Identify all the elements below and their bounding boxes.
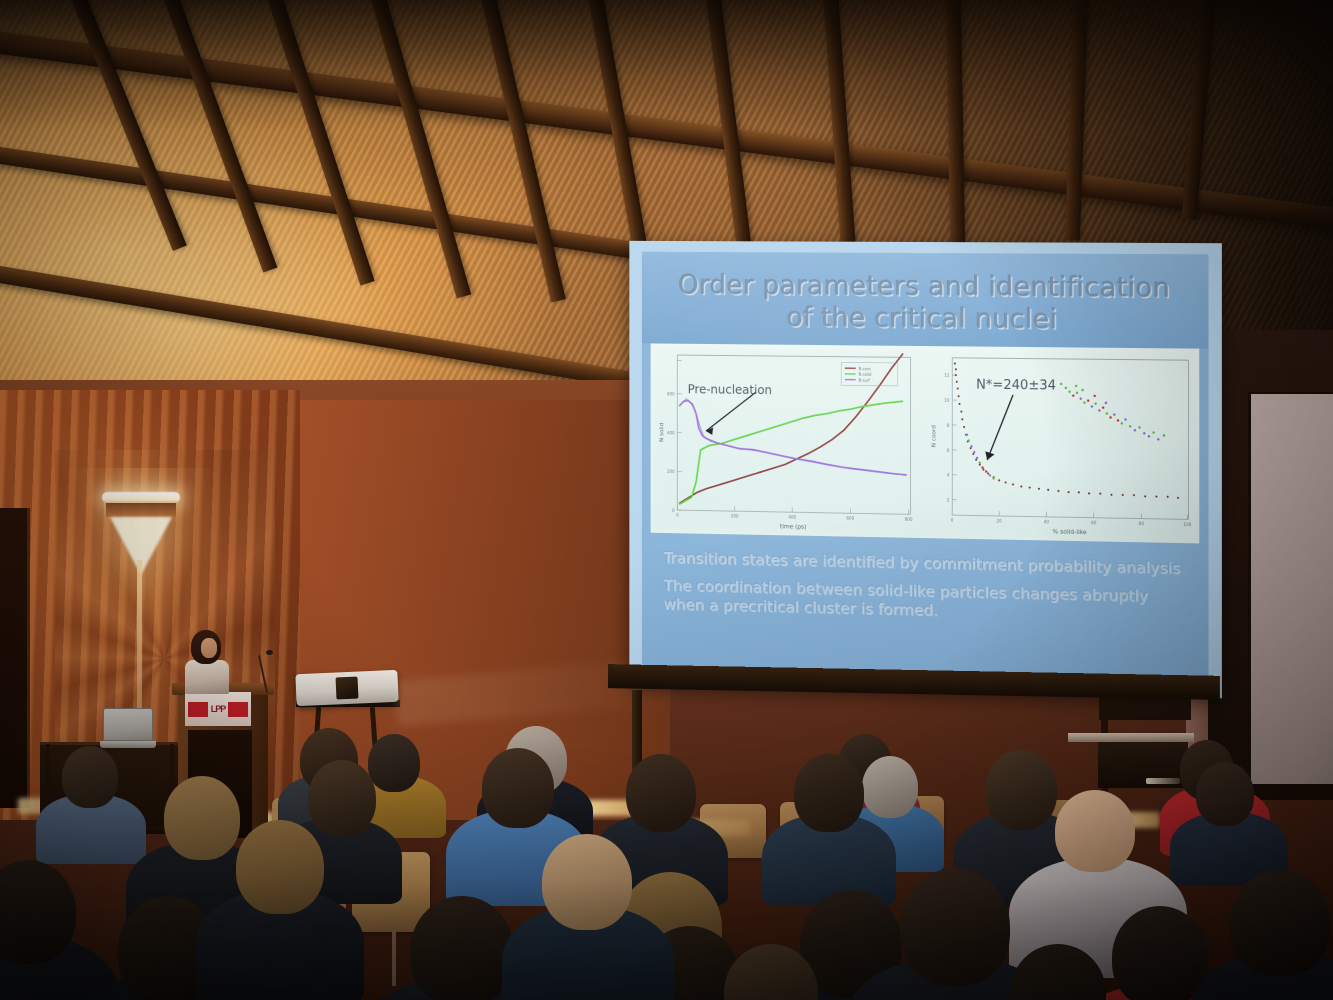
sconce-neck [106,503,176,517]
left-chart-yticks: 0200 400600 [667,392,675,513]
right-chart-xlabel: % solid-like [1052,529,1086,537]
left-chart: N core N solid N surf time (ps) N solid … [650,344,921,538]
head [0,860,76,964]
svg-text:4: 4 [947,473,950,478]
speaker-body [185,660,229,694]
head [1112,906,1208,1000]
left-chart-svg: N core N solid N surf time (ps) N solid … [650,344,921,538]
right-chart-yticks: 246 81012 [944,373,950,503]
head [410,896,514,1000]
projection-screen: Order parameters and identification of t… [629,241,1222,698]
slide-title-line2: of the critical nuclei [787,302,1058,335]
prenucleation-label: Pre-nucleation [688,382,772,397]
slide-bullet-1: Transition states are identified by comm… [663,549,1186,579]
presentation-slide: Order parameters and identification of t… [629,241,1222,698]
right-chart: % solid-like N coord 02040 6080100 246 8… [921,346,1200,543]
slide-title-band: Order parameters and identification of t… [642,251,1208,349]
svg-text:20: 20 [997,519,1003,524]
microphone-head [266,650,273,655]
head [308,760,376,836]
lecture-hall-photo: LPP Order parameters and identificatio [0,0,1333,1000]
slide-title-line1: Order parameters and identification [678,270,1170,304]
projector-lens [336,677,359,700]
svg-text:200: 200 [730,514,738,519]
svg-text:0: 0 [672,508,675,513]
head [482,748,554,828]
svg-text:40: 40 [1044,520,1050,525]
svg-text:600: 600 [667,392,675,397]
svg-text:100: 100 [1183,522,1191,527]
head [542,834,632,930]
head [368,734,420,792]
head [1055,790,1135,872]
sconce-bar [102,492,180,503]
series-solid [679,399,903,509]
slide-charts: N core N solid N surf time (ps) N solid … [650,344,1199,544]
wall-sconce-lamp [96,492,190,552]
svg-text:12: 12 [944,373,950,378]
left-chart-ylabel: N solid [659,423,665,443]
svg-text:2: 2 [947,498,950,503]
right-chart-ylabel: N coord [932,425,938,448]
svg-text:N surf: N surf [858,378,870,383]
svg-text:0: 0 [676,513,679,518]
svg-text:600: 600 [846,516,854,521]
nstar-arrow [987,395,1013,461]
head [626,754,696,832]
upper-band-points [1060,383,1165,441]
head [1196,762,1254,826]
series-surface [679,401,907,476]
svg-text:200: 200 [667,469,675,474]
svg-text:800: 800 [904,517,912,522]
svg-text:6: 6 [947,448,950,453]
slide-content: Order parameters and identification of t… [642,251,1208,686]
speaker-presenter [183,630,231,692]
left-chart-legend: N core N solid N surf [841,363,897,387]
slide-bullet-2: The coordination between solid-like part… [663,576,1186,626]
svg-text:60: 60 [1091,521,1097,526]
left-chart-xlabel: time (ps) [780,523,806,531]
speaker-face [201,638,217,658]
svg-text:80: 80 [1139,522,1145,527]
head [900,868,1010,986]
slide-body-text: Transition states are identified by comm… [642,532,1208,686]
head [794,754,864,832]
right-chart-svg: % solid-like N coord 02040 6080100 246 8… [921,346,1200,543]
prenucleation-arrow [706,392,756,432]
head [1230,870,1330,976]
head [62,746,118,808]
svg-text:0: 0 [951,518,954,523]
svg-text:400: 400 [788,515,796,520]
svg-text:10: 10 [944,398,950,403]
head [862,756,918,818]
nstar-label: N*=240±34 [976,378,1056,394]
head [985,750,1057,830]
head [164,776,240,860]
audience [0,700,1333,1000]
series-surface-noise [681,399,905,475]
head [236,820,324,914]
svg-text:8: 8 [947,423,950,428]
svg-text:N core: N core [858,366,871,371]
svg-text:N solid: N solid [858,372,871,377]
svg-text:400: 400 [667,431,675,436]
